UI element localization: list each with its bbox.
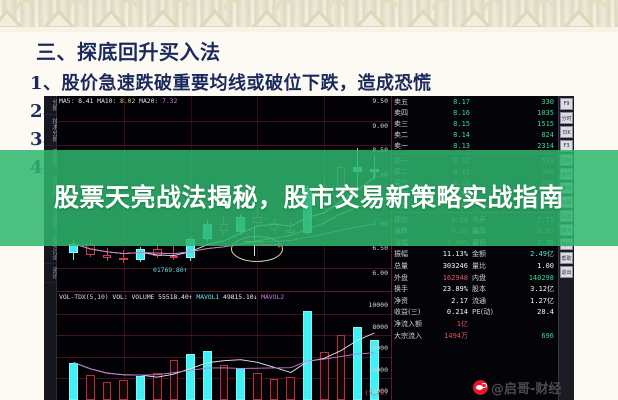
volume-axis-tick: 6000 bbox=[372, 344, 388, 352]
vertical-tab-sidebar[interactable]: 分析技术分析不复权大双底部集成解盘股吧讨论资讯 bbox=[44, 96, 57, 400]
lesson-item: 1、股价急速跌破重要均线或破位下跌，造成恐慌 bbox=[0, 68, 618, 96]
quote-stat-row: 外盘162948内盘140298 bbox=[392, 272, 558, 284]
quote-stat-row: 大宗流入1494万696 bbox=[392, 330, 558, 342]
stat-label: 股本 bbox=[472, 284, 498, 294]
quote-stat-row: 净流入额1亿 bbox=[392, 318, 558, 330]
sidebar-tab-0[interactable]: 分析 bbox=[44, 96, 57, 115]
weibo-icon bbox=[473, 380, 488, 395]
order-quantity: 330 bbox=[470, 98, 558, 106]
stat-label: 外盘 bbox=[392, 273, 420, 283]
icon-toolbar[interactable]: F9分时日KF3指标画线叠加多股设置放大刷新帮助退出 bbox=[558, 96, 574, 400]
price-axis-tick: 9.50 bbox=[372, 97, 388, 105]
order-quantity: 824 bbox=[470, 131, 558, 139]
stat-label: 总量 bbox=[392, 261, 420, 271]
volume-axis-tick: 4000 bbox=[372, 366, 388, 374]
stat-label: 内盘 bbox=[472, 273, 498, 283]
toolbar-icon-12[interactable]: 退出 bbox=[560, 266, 573, 278]
stat-value: 0.214 bbox=[420, 308, 472, 316]
order-book-row: 卖四8.161035 bbox=[392, 107, 558, 118]
order-level-label: 卖三 bbox=[392, 119, 422, 129]
stat-value: 1.00 bbox=[498, 262, 558, 270]
volume-ma-polyline bbox=[74, 333, 375, 377]
sidebar-tab-1[interactable]: 技术分析 bbox=[44, 115, 57, 146]
stat-label: 振幅 bbox=[392, 249, 420, 259]
order-book-sell: 卖五8.17330卖四8.161035卖三8.151515卖二8.14824卖一… bbox=[392, 96, 558, 152]
order-level-label: 卖五 bbox=[392, 97, 422, 107]
volume-axis-tick: 8000 bbox=[372, 323, 388, 331]
headline-text: 股票天亮战法揭秘，股市交易新策略实战指南 bbox=[54, 182, 564, 214]
stat-label: 收益(三) bbox=[392, 307, 420, 317]
stat-value: 11.13% bbox=[420, 250, 472, 258]
stat-label: 净资 bbox=[392, 296, 420, 306]
quote-stat-row: 收益(三)0.214PE(动)28.4 bbox=[392, 307, 558, 319]
chart-area: MA5: 8.41 MA10: 8.02 MA20: 7.32 01769.80… bbox=[57, 96, 391, 400]
stat-value: 696 bbox=[498, 332, 558, 340]
stat-value: 303246 bbox=[420, 262, 472, 270]
quote-stat-row: 净资2.17流通1.27亿 bbox=[392, 295, 558, 307]
volume-axis-tick: 10000 bbox=[368, 301, 388, 309]
price-axis-tick: 6.00 bbox=[372, 269, 388, 277]
stat-value: 1494万 bbox=[420, 331, 472, 341]
order-quantity: 1515 bbox=[470, 120, 558, 128]
volume-axis-tag: (5,10) bbox=[365, 389, 388, 397]
quote-stat-row: 总量303246量比1.00 bbox=[392, 260, 558, 272]
decorative-border bbox=[0, 0, 618, 32]
order-price: 8.15 bbox=[422, 120, 470, 128]
stat-value: 23.89% bbox=[420, 285, 472, 293]
volume-ma-lines bbox=[57, 292, 391, 400]
toolbar-icon-1[interactable]: 分时 bbox=[560, 112, 573, 124]
stat-value: 162948 bbox=[420, 274, 472, 282]
order-quantity: 1035 bbox=[470, 109, 558, 117]
stat-label: 流通 bbox=[472, 296, 498, 306]
order-book-row: 卖二8.14824 bbox=[392, 130, 558, 141]
stat-value: 2.49亿 bbox=[498, 249, 558, 259]
headline-banner: 股票天亮战法揭秘，股市交易新策略实战指南 bbox=[0, 150, 618, 246]
stat-label: PE(动) bbox=[472, 307, 498, 317]
watermark: @启哥-财经 bbox=[473, 378, 561, 397]
order-price: 8.14 bbox=[422, 131, 470, 139]
stat-label: 换手 bbox=[392, 284, 420, 294]
stat-label: 净流入额 bbox=[392, 319, 420, 329]
stat-value: 1亿 bbox=[420, 319, 472, 329]
toolbar-icon-0[interactable]: F9 bbox=[560, 98, 573, 110]
quote-panel: 卖五8.17330卖四8.161035卖三8.151515卖二8.14824卖一… bbox=[391, 96, 558, 400]
order-level-label: 卖四 bbox=[392, 108, 422, 118]
watermark-handle: @启哥-财经 bbox=[491, 378, 561, 397]
stat-value: 28.4 bbox=[498, 308, 558, 316]
order-price: 8.17 bbox=[422, 98, 470, 106]
volume-chart-pane: VOL-TDX(5,10) VOL: VOLUME 55518.40↑ MAVO… bbox=[57, 292, 391, 400]
stat-label: 大宗流入 bbox=[392, 331, 420, 341]
stat-value: 140298 bbox=[498, 274, 558, 282]
quote-stat-row: 振幅11.13%金额2.49亿 bbox=[392, 249, 558, 261]
order-price: 8.16 bbox=[422, 109, 470, 117]
quote-stat-row: 换手23.89%股本3.12亿 bbox=[392, 283, 558, 295]
stat-value: 3.12亿 bbox=[498, 284, 558, 294]
stat-value: 2.17 bbox=[420, 297, 472, 305]
toolbar-icon-11[interactable]: 帮助 bbox=[560, 252, 573, 264]
order-book-row: 卖五8.17330 bbox=[392, 96, 558, 107]
toolbar-icon-2[interactable]: 日K bbox=[560, 126, 573, 138]
order-book-row: 卖三8.151515 bbox=[392, 118, 558, 129]
border-triangle-icon bbox=[614, 9, 618, 28]
screenshot-stage: 三、探底回升买入法 1、股价急速跌破重要均线或破位下跌，造成恐慌 2、在下跌过程… bbox=[0, 0, 618, 400]
stat-value: 1.27亿 bbox=[498, 296, 558, 306]
stat-label: 量比 bbox=[472, 261, 498, 271]
price-axis-tick: 9.00 bbox=[372, 122, 388, 130]
sidebar-tab-6[interactable]: 资讯 bbox=[44, 264, 57, 283]
stock-software-screenshot: 分析技术分析不复权大双底部集成解盘股吧讨论资讯 MA5: 8.41 MA10: … bbox=[44, 96, 574, 400]
lesson-title: 三、探底回升买入法 bbox=[0, 32, 618, 68]
stat-label: 金额 bbox=[472, 249, 498, 259]
order-level-label: 卖二 bbox=[392, 130, 422, 140]
